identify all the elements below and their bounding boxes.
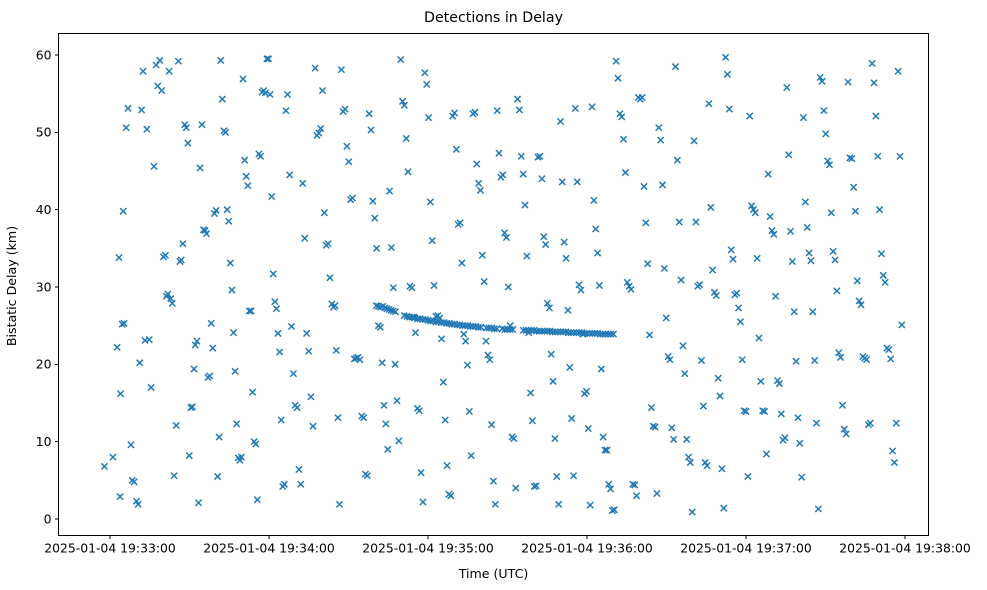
- y-tick-label: 0: [44, 511, 52, 526]
- x-tick-label: 2025-01-04 19:37:00: [680, 541, 812, 556]
- y-tick-label: 20: [36, 357, 52, 372]
- scatter-chart: 01020304050602025-01-04 19:33:002025-01-…: [0, 0, 987, 590]
- x-tick-label: 2025-01-04 19:34:00: [203, 541, 335, 556]
- x-tick-label: 2025-01-04 19:38:00: [839, 541, 971, 556]
- x-tick-label: 2025-01-04 19:33:00: [44, 541, 176, 556]
- y-tick-label: 40: [36, 202, 52, 217]
- y-tick-label: 50: [36, 125, 52, 140]
- x-tick-label: 2025-01-04 19:35:00: [362, 541, 494, 556]
- matplotlib-figure: 01020304050602025-01-04 19:33:002025-01-…: [0, 0, 987, 590]
- y-tick-label: 10: [36, 434, 52, 449]
- y-tick-label: 60: [36, 47, 52, 62]
- y-axis-label: Bistatic Delay (km): [4, 226, 19, 346]
- y-tick-label: 30: [36, 279, 52, 294]
- chart-title: Detections in Delay: [424, 10, 563, 26]
- x-tick-label: 2025-01-04 19:36:00: [521, 541, 653, 556]
- x-axis-label: Time (UTC): [458, 566, 529, 581]
